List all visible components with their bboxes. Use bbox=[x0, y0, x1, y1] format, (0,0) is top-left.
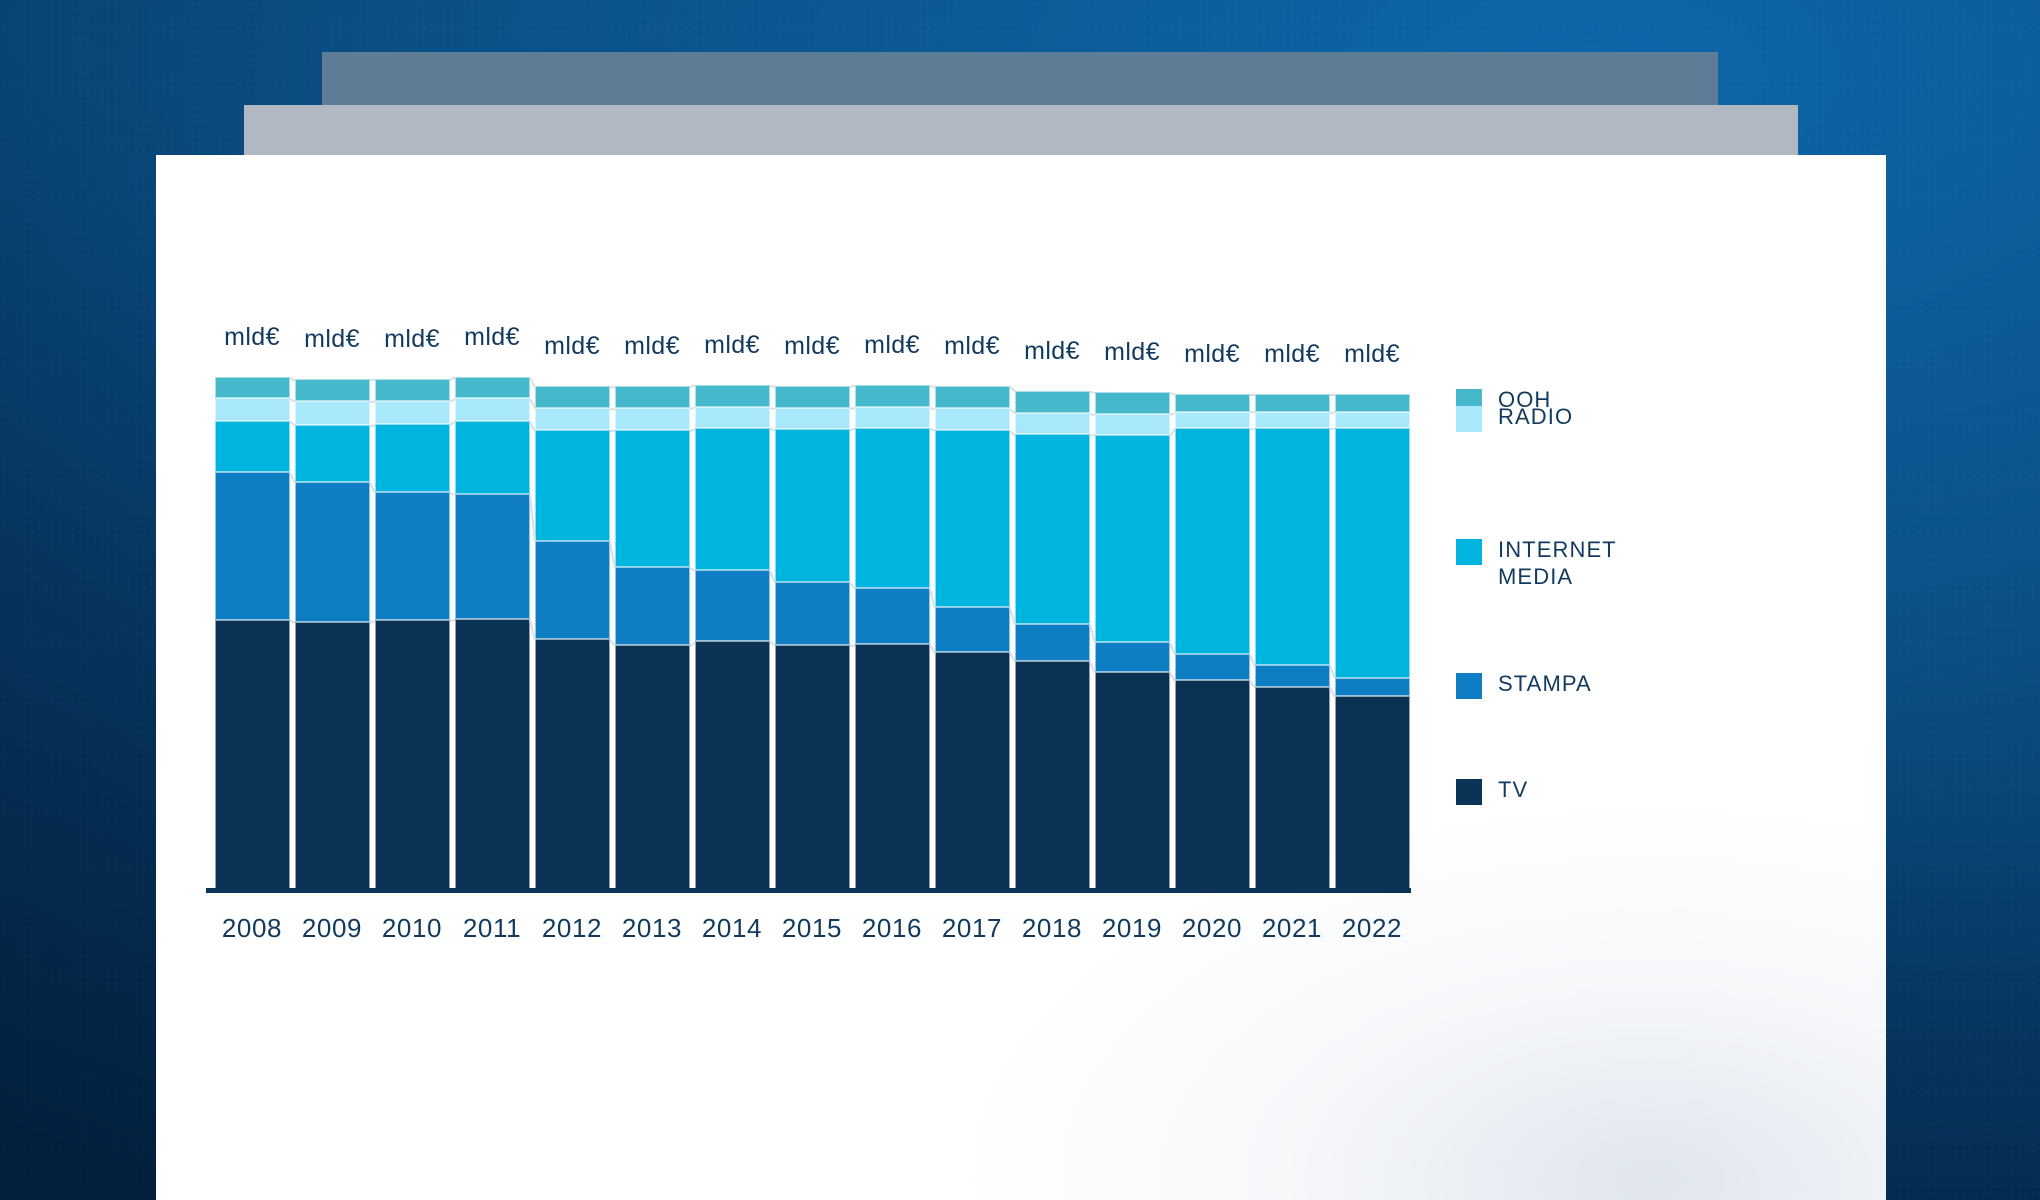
segment-connector-line bbox=[769, 407, 774, 410]
segment-connector-line bbox=[370, 401, 375, 403]
bar-segment-stampa[interactable] bbox=[615, 567, 690, 645]
bar-segment-stampa[interactable] bbox=[1255, 665, 1330, 686]
legend-swatch-icon bbox=[1456, 779, 1482, 805]
bar-segment-internet-media[interactable] bbox=[855, 428, 930, 587]
bar-column[interactable] bbox=[695, 345, 770, 890]
segment-connector-line bbox=[610, 430, 615, 432]
bar-segment-tv[interactable] bbox=[935, 652, 1010, 890]
segment-connector-line bbox=[1250, 394, 1255, 396]
bar-segment-radio[interactable] bbox=[615, 408, 690, 430]
bar-segment-ooh[interactable] bbox=[695, 385, 770, 407]
segment-connector-line bbox=[1249, 428, 1254, 431]
bar-segment-radio[interactable] bbox=[375, 401, 450, 424]
bar-segment-radio[interactable] bbox=[455, 398, 530, 420]
bar-segment-radio[interactable] bbox=[295, 401, 370, 424]
bar-column[interactable] bbox=[935, 345, 1010, 890]
bar-segment-tv[interactable] bbox=[615, 645, 690, 890]
bar-column[interactable] bbox=[1175, 345, 1250, 890]
bar-segment-internet-media[interactable] bbox=[455, 421, 530, 495]
bar-segment-stampa[interactable] bbox=[775, 582, 850, 645]
legend-label: TV bbox=[1498, 777, 1528, 804]
segment-connector-line bbox=[609, 386, 614, 389]
bar-segment-internet-media[interactable] bbox=[375, 424, 450, 492]
bar-segment-radio[interactable] bbox=[1095, 414, 1170, 435]
segment-connector-line bbox=[769, 428, 774, 431]
bar-segment-tv[interactable] bbox=[695, 641, 770, 890]
legend-swatch-icon bbox=[1456, 406, 1482, 432]
segment-connector-line bbox=[929, 385, 935, 389]
bar-column[interactable] bbox=[455, 345, 530, 890]
x-axis-line bbox=[206, 888, 1411, 893]
bar-segment-internet-media[interactable] bbox=[1335, 428, 1410, 678]
bar-segment-tv[interactable] bbox=[855, 644, 930, 890]
bar-segment-stampa[interactable] bbox=[295, 482, 370, 622]
bar-segment-tv[interactable] bbox=[455, 619, 530, 890]
bar-segment-tv[interactable] bbox=[535, 639, 610, 890]
bar-segment-ooh[interactable] bbox=[1175, 394, 1250, 411]
bar-segment-stampa[interactable] bbox=[935, 607, 1010, 652]
bar-column[interactable] bbox=[775, 345, 850, 890]
bar-segment-internet-media[interactable] bbox=[215, 421, 290, 472]
segment-connector-line bbox=[1089, 391, 1094, 394]
segment-connector-line bbox=[1330, 394, 1335, 396]
bar-segment-ooh[interactable] bbox=[855, 385, 930, 407]
legend-item-radio[interactable]: RADIO bbox=[1456, 404, 1573, 432]
legend-label: INTERNET MEDIA bbox=[1498, 537, 1617, 591]
legend-label: RADIO bbox=[1498, 404, 1573, 431]
bar-segment-tv[interactable] bbox=[1175, 680, 1250, 890]
bar-segment-stampa[interactable] bbox=[1335, 678, 1410, 696]
bar-segment-tv[interactable] bbox=[1015, 661, 1090, 890]
bar-segment-ooh[interactable] bbox=[1255, 394, 1330, 412]
bar-segment-ooh[interactable] bbox=[375, 379, 450, 401]
bar-segment-ooh[interactable] bbox=[455, 377, 530, 399]
bar-segment-tv[interactable] bbox=[1335, 696, 1410, 890]
bar-segment-ooh[interactable] bbox=[1095, 392, 1170, 414]
bar-segment-tv[interactable] bbox=[775, 645, 850, 890]
bar-segment-internet-media[interactable] bbox=[1255, 428, 1330, 665]
bar-segment-stampa[interactable] bbox=[455, 494, 530, 618]
bar-segment-ooh[interactable] bbox=[935, 386, 1010, 408]
legend-item-tv[interactable]: TV bbox=[1456, 777, 1528, 805]
bar-column[interactable] bbox=[855, 345, 930, 890]
bar-segment-internet-media[interactable] bbox=[615, 430, 690, 567]
bar-segment-ooh[interactable] bbox=[215, 377, 290, 399]
bar-column[interactable] bbox=[215, 345, 290, 890]
bar-segment-stampa[interactable] bbox=[375, 492, 450, 620]
bar-segment-stampa[interactable] bbox=[1095, 642, 1170, 672]
bar-segment-internet-media[interactable] bbox=[535, 430, 610, 541]
bar-segment-tv[interactable] bbox=[295, 622, 370, 890]
bar-segment-radio[interactable] bbox=[775, 408, 850, 430]
segment-connector-line bbox=[1089, 413, 1094, 416]
bar-segment-internet-media[interactable] bbox=[775, 429, 850, 581]
legend-label: STAMPA bbox=[1498, 671, 1592, 698]
bar-segment-radio[interactable] bbox=[535, 408, 610, 430]
bar-segment-radio[interactable] bbox=[695, 407, 770, 429]
bar-column[interactable] bbox=[535, 345, 610, 890]
bar-segment-stampa[interactable] bbox=[1175, 654, 1250, 680]
bar-segment-ooh[interactable] bbox=[1335, 394, 1410, 411]
bar-segment-radio[interactable] bbox=[215, 398, 290, 421]
bar-segment-ooh[interactable] bbox=[1015, 391, 1090, 413]
legend-swatch-icon bbox=[1456, 673, 1482, 699]
bar-unit-label: mld€ bbox=[1317, 340, 1427, 369]
bar-segment-internet-media[interactable] bbox=[935, 430, 1010, 607]
bar-segment-radio[interactable] bbox=[855, 407, 930, 429]
legend-item-internet-media[interactable]: INTERNET MEDIA bbox=[1456, 537, 1617, 591]
segment-connector-line bbox=[1330, 428, 1335, 430]
bar-segment-stampa[interactable] bbox=[695, 570, 770, 642]
bar-segment-stampa[interactable] bbox=[215, 472, 290, 620]
bar-column[interactable] bbox=[295, 345, 370, 890]
segment-connector-line bbox=[289, 399, 295, 403]
segment-connector-line bbox=[849, 644, 854, 647]
bar-segment-ooh[interactable] bbox=[535, 386, 610, 408]
bar-column[interactable] bbox=[1015, 345, 1090, 890]
bar-segment-internet-media[interactable] bbox=[1175, 428, 1250, 654]
bar-segment-stampa[interactable] bbox=[535, 541, 610, 639]
bar-column[interactable] bbox=[1255, 345, 1330, 890]
bar-segment-internet-media[interactable] bbox=[1015, 434, 1090, 624]
bar-segment-radio[interactable] bbox=[935, 408, 1010, 430]
bar-segment-ooh[interactable] bbox=[295, 379, 370, 401]
segment-connector-line bbox=[370, 379, 375, 381]
bar-segment-radio[interactable] bbox=[1015, 413, 1090, 435]
legend-item-stampa[interactable]: STAMPA bbox=[1456, 671, 1592, 699]
bar-segment-ooh[interactable] bbox=[615, 386, 690, 408]
slide-card: OOHRADIOINTERNET MEDIASTAMPATV mld€2008m… bbox=[156, 155, 1886, 1200]
bar-segment-ooh[interactable] bbox=[775, 386, 850, 408]
bar-segment-radio[interactable] bbox=[1335, 412, 1410, 429]
plot-area bbox=[208, 345, 1408, 890]
segment-connector-line bbox=[289, 620, 295, 624]
legend-swatch-icon bbox=[1456, 539, 1482, 565]
segment-connector-line bbox=[449, 492, 455, 496]
bar-segment-tv[interactable] bbox=[1255, 687, 1330, 890]
bar-segment-internet-media[interactable] bbox=[695, 428, 770, 569]
segment-connector-line bbox=[929, 428, 935, 432]
bar-segment-tv[interactable] bbox=[215, 620, 290, 890]
bar-segment-tv[interactable] bbox=[1095, 672, 1170, 890]
bar-segment-radio[interactable] bbox=[1255, 412, 1330, 428]
bar-column[interactable] bbox=[375, 345, 450, 890]
bar-column[interactable] bbox=[1335, 345, 1410, 890]
bar-segment-tv[interactable] bbox=[375, 620, 450, 890]
bar-segment-radio[interactable] bbox=[1175, 412, 1250, 428]
segment-connector-line bbox=[369, 424, 374, 427]
bar-segment-stampa[interactable] bbox=[1015, 624, 1090, 661]
stacked-bar-chart: OOHRADIOINTERNET MEDIASTAMPATV mld€2008m… bbox=[156, 155, 1886, 1200]
chart-legend: OOHRADIOINTERNET MEDIASTAMPATV bbox=[1456, 345, 1786, 905]
segment-connector-line bbox=[769, 385, 774, 388]
bar-column[interactable] bbox=[615, 345, 690, 890]
x-axis-label-2022: 2022 bbox=[1317, 913, 1427, 944]
bar-segment-stampa[interactable] bbox=[855, 588, 930, 645]
segment-connector-line bbox=[609, 408, 614, 411]
bar-segment-internet-media[interactable] bbox=[1095, 435, 1170, 642]
bar-column[interactable] bbox=[1095, 345, 1170, 890]
bar-segment-internet-media[interactable] bbox=[295, 425, 370, 483]
